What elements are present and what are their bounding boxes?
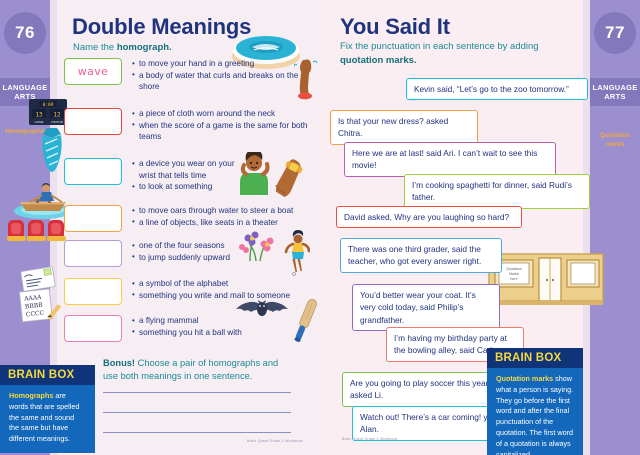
definition: to look at something (132, 181, 242, 193)
definition: a symbol of the alphabet (132, 278, 307, 290)
brain-box-left: BRAIN BOX Homographs are words that are … (0, 365, 95, 453)
answer-text-1: wave (65, 59, 121, 84)
instruction-right: Fix the punctuation in each sentence by … (340, 40, 540, 68)
brain-box-body-left: Homographs are words that are spelled th… (0, 385, 95, 453)
sentence-text: Watch out! There’s a car coming! yelled … (360, 412, 505, 434)
page-title-right: You Said It (340, 14, 450, 40)
brain-box-heading-right: BRAIN BOX (487, 348, 583, 368)
brain-box-heading-left: BRAIN BOX (0, 365, 95, 385)
answer-text-7 (65, 316, 121, 341)
topic-label-right: Quotation marks (590, 132, 640, 149)
answer-text-4 (65, 206, 121, 231)
answer-text-6 (65, 279, 121, 304)
instruction-left-plain: Name the (73, 42, 117, 53)
answer-box-6[interactable] (64, 278, 122, 305)
sentence-text: Kevin said, “Let’s go to the zoo tomorro… (414, 84, 569, 94)
right-sidebar: 77 LANGUAGE ARTS Quotation marks (590, 0, 640, 455)
definition: to jump suddenly upward (132, 252, 312, 264)
sentence-text: There was one third grader, said the tea… (348, 244, 481, 266)
instruction-right-bold: quotation marks. (340, 55, 417, 66)
svg-text:0:09: 0:09 (43, 102, 54, 108)
brain-box-text-right: show what a person is saying. They go be… (496, 374, 573, 455)
definitions-6: a symbol of the alphabet something you w… (132, 278, 307, 301)
bonus-write-line[interactable] (103, 392, 291, 393)
instruction-left-bold: homograph. (117, 42, 172, 53)
answer-text-3 (65, 159, 121, 184)
definition: a line of objects, like seats in a theat… (132, 217, 302, 229)
answer-box-7[interactable] (64, 315, 122, 342)
topic-label-right-line1: Quotation (600, 132, 630, 139)
brain-box-lead-right: Quotation marks (496, 374, 553, 383)
instruction-right-plain: Fix the punctuation in each sentence by … (340, 41, 539, 52)
svg-text:HOME: HOME (35, 120, 44, 124)
sentence-text: David asked, Why are you laughing so har… (344, 212, 509, 222)
definition: a body of water that curls and breaks on… (132, 70, 312, 93)
svg-text:13: 13 (35, 112, 43, 119)
definition: a flying mammal (132, 315, 312, 327)
brain-box-lead-left: Homographs (9, 391, 53, 400)
bonus-label: Bonus! (103, 358, 135, 368)
answer-box-3[interactable] (64, 158, 122, 185)
scoreboard-illustration: 0:09 13 12 HOME VISITOR (28, 98, 68, 126)
instruction-left: Name the homograph. (73, 41, 172, 55)
sentence-text: Are you going to play soccer this year? … (350, 378, 493, 400)
definition: to move your hand in a greeting (132, 58, 312, 70)
sentence-text: Is that your new dress? asked Chitra. (338, 116, 448, 138)
sentence-box-2[interactable]: Is that your new dress? asked Chitra. (330, 110, 478, 145)
answer-text-5 (65, 241, 121, 266)
sentence-box-6[interactable]: There was one third grader, said the tea… (340, 238, 502, 273)
wristwatch-arm-illustration (274, 158, 308, 200)
subject-band-right: LANGUAGE ARTS (590, 78, 640, 106)
picture-frames-wall-illustration: Quotation Marks here (487, 252, 605, 310)
answer-box-2[interactable] (64, 108, 122, 135)
sentence-box-4[interactable]: I’m cooking spaghetti for dinner, said R… (404, 174, 590, 209)
definition: when the score of a game is the same for… (132, 120, 312, 143)
svg-text:Quotation: Quotation (506, 267, 522, 271)
page-title-left: Double Meanings (72, 14, 251, 40)
svg-text:here: here (510, 277, 517, 281)
definitions-7: a flying mammal something you hit a ball… (132, 315, 312, 338)
theater-seats-illustration (6, 216, 68, 246)
definition: something you write and mail to someone (132, 290, 307, 302)
sentence-box-3[interactable]: Here we are at last! said Ari. I can’t w… (344, 142, 556, 177)
alphabet-sheet-illustration: AAAA BBBB CCCC (18, 288, 62, 324)
brain-box-right: BRAIN BOX Quotation marks show what a pe… (487, 348, 583, 455)
bonus-write-line[interactable] (103, 412, 291, 413)
sentence-box-1[interactable]: Kevin said, “Let’s go to the zoo tomorro… (406, 78, 588, 100)
answer-box-5[interactable] (64, 240, 122, 267)
definition: a device you wear on your wrist that tel… (132, 158, 242, 181)
bonus-instruction: Bonus! Choose a pair of homographs and u… (103, 357, 293, 384)
footer-left: Brain Quest Grade 3 Workbook (247, 439, 303, 443)
footer-right: Brain Quest Grade 3 Workbook (342, 437, 398, 441)
answer-text-2 (65, 109, 121, 134)
workbook-spread: 76 LANGUAGE ARTS Homographs 77 LANGUAGE … (0, 0, 640, 455)
page-number-left: 76 (4, 12, 46, 54)
definition: a piece of cloth worn around the neck (132, 108, 312, 120)
bonus-write-line[interactable] (103, 432, 291, 433)
definition: something you hit a ball with (132, 327, 312, 339)
necktie-illustration (38, 126, 66, 174)
definition: one of the four seasons (132, 240, 312, 252)
page-number-right: 77 (594, 12, 636, 54)
sentence-box-7[interactable]: You’d better wear your coat. It’s very c… (352, 284, 500, 331)
svg-text:VISITOR: VISITOR (51, 120, 64, 124)
sentence-text: You’d better wear your coat. It’s very c… (360, 290, 476, 325)
definitions-3: a device you wear on your wrist that tel… (132, 158, 242, 193)
svg-text:Marks: Marks (509, 272, 519, 276)
sentence-box-5[interactable]: David asked, Why are you laughing so har… (336, 206, 522, 228)
sentence-box-9[interactable]: Are you going to play soccer this year? … (342, 372, 508, 407)
definitions-5: one of the four seasons to jump suddenly… (132, 240, 312, 263)
definitions-4: to move oars through water to steer a bo… (132, 205, 302, 228)
definition: to move oars through water to steer a bo… (132, 205, 302, 217)
sentence-text: Here we are at last! said Ari. I can’t w… (352, 148, 537, 170)
topic-label-right-line2: marks (606, 141, 625, 148)
svg-text:12: 12 (53, 112, 61, 119)
definitions-1: to move your hand in a greeting a body o… (132, 58, 312, 93)
sentence-text: I’m cooking spaghetti for dinner, said R… (412, 180, 572, 202)
brain-box-body-right: Quotation marks show what a person is sa… (487, 368, 583, 455)
answer-box-1[interactable]: wave (64, 58, 122, 85)
answer-box-4[interactable] (64, 205, 122, 232)
definitions-2: a piece of cloth worn around the neck wh… (132, 108, 312, 143)
